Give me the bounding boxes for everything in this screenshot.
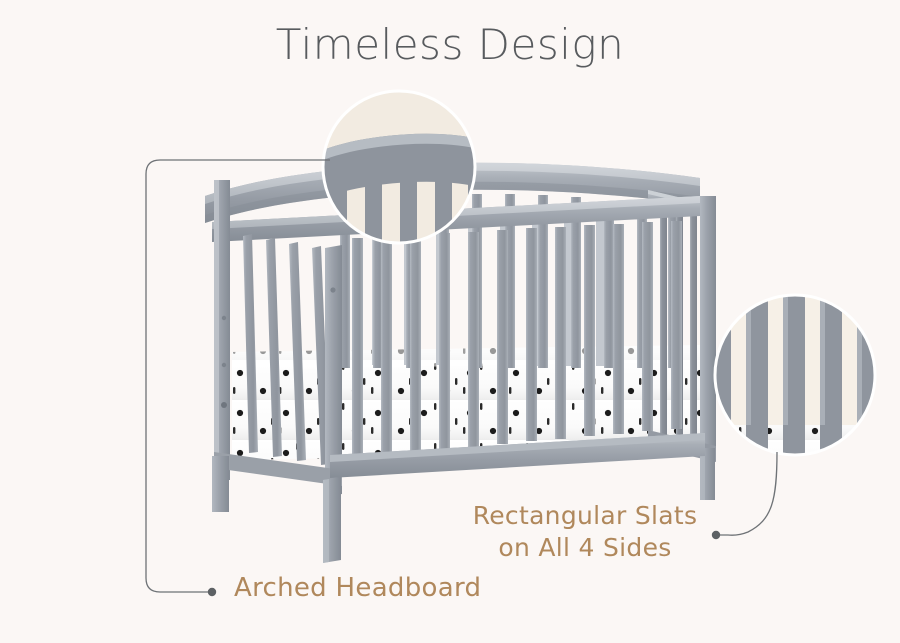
crib-illustration [0, 0, 900, 643]
callout-slats-line2: on All 4 Sides [455, 532, 715, 564]
callout-label-arched-headboard: Arched Headboard [234, 573, 481, 603]
magnifier-slats-detail [705, 285, 885, 465]
callout-label-rectangular-slats: Rectangular Slats on All 4 Sides [455, 500, 715, 564]
callout-slats-line1: Rectangular Slats [473, 501, 698, 530]
infographic-canvas: Timeless Design [0, 0, 900, 643]
